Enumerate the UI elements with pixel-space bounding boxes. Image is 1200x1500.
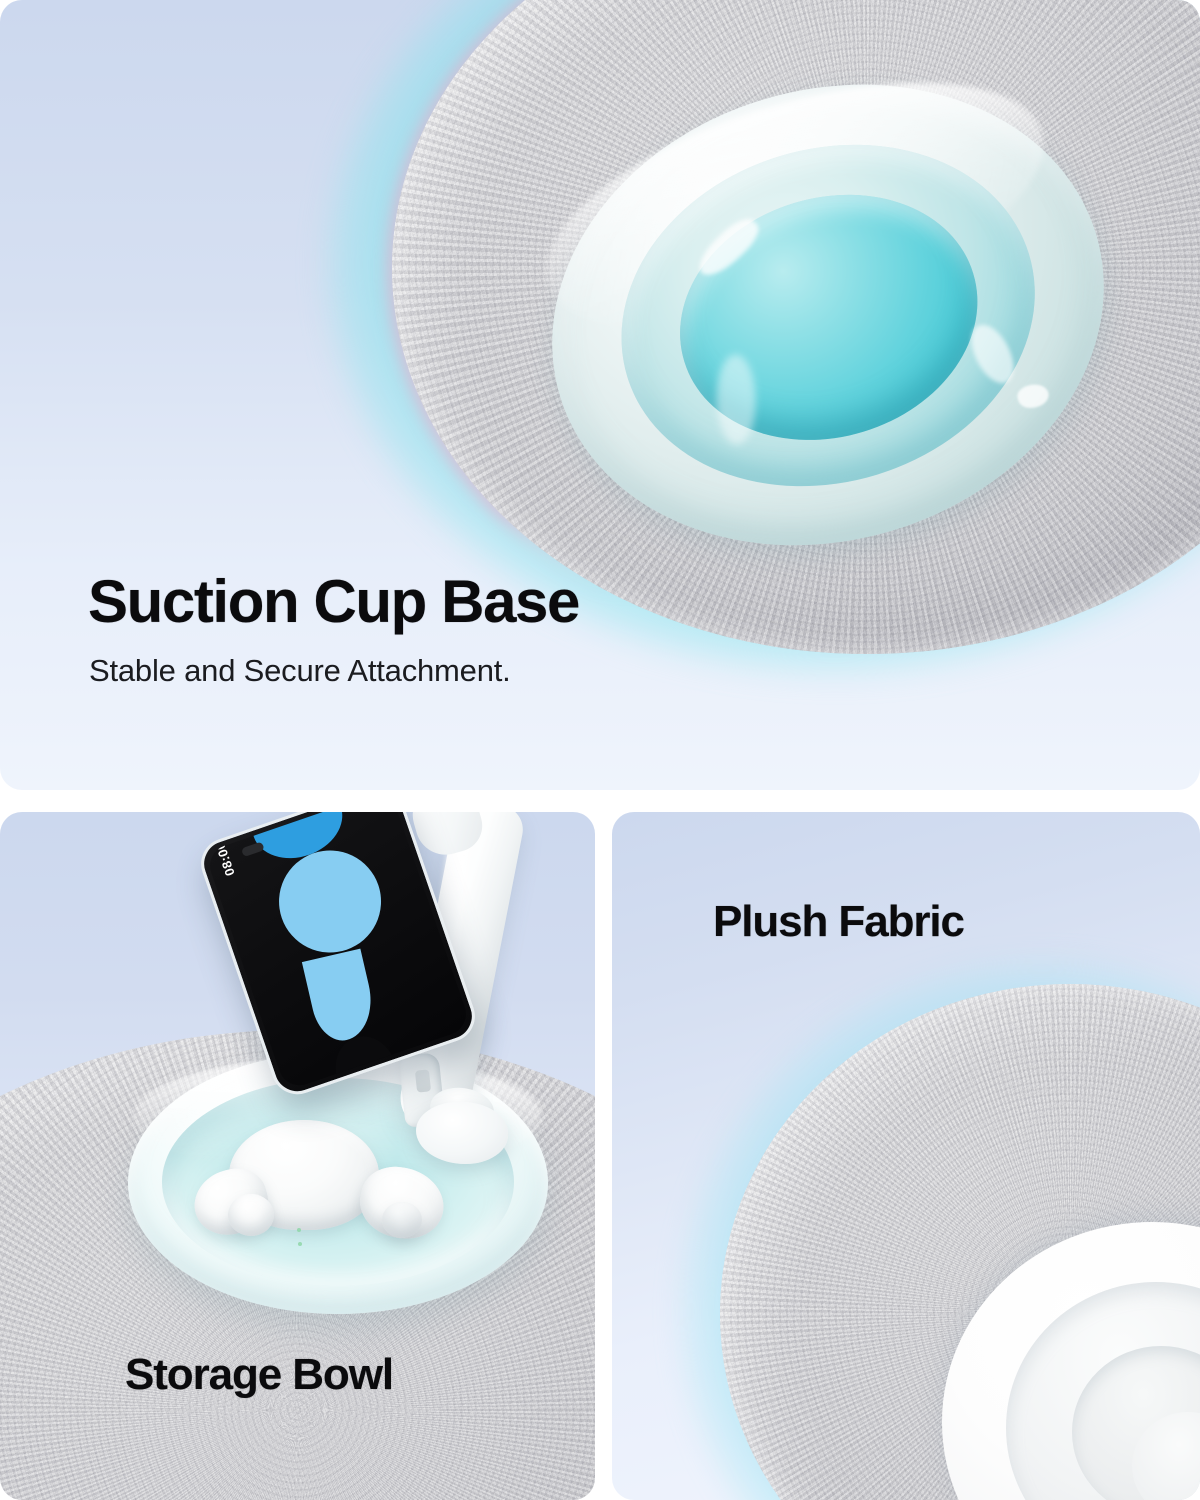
phone-status-bar-time: 08:00 bbox=[212, 840, 238, 878]
earbud-indicator-dot bbox=[297, 1228, 301, 1232]
earbud-right-tip bbox=[382, 1202, 422, 1238]
swirl-tail bbox=[302, 949, 380, 1046]
stand-hinge-slot bbox=[415, 1069, 431, 1092]
panel-title-plush-fabric: Plush Fabric bbox=[713, 900, 964, 944]
panel-suction-cup-base: Suction Cup Base Stable and Secure Attac… bbox=[0, 0, 1200, 790]
stand-foot bbox=[416, 1102, 508, 1164]
earbud-indicator-dot bbox=[298, 1242, 302, 1246]
panel-subtitle-suction-cup-base: Stable and Secure Attachment. bbox=[89, 655, 511, 686]
product-feature-collage: Suction Cup Base Stable and Secure Attac… bbox=[0, 0, 1200, 1500]
panel-title-storage-bowl: Storage Bowl bbox=[125, 1353, 393, 1397]
panel-title-suction-cup-base: Suction Cup Base bbox=[88, 572, 579, 632]
wallpaper-swirl-graphic bbox=[242, 812, 433, 946]
earbud-left-stem bbox=[228, 1194, 274, 1236]
